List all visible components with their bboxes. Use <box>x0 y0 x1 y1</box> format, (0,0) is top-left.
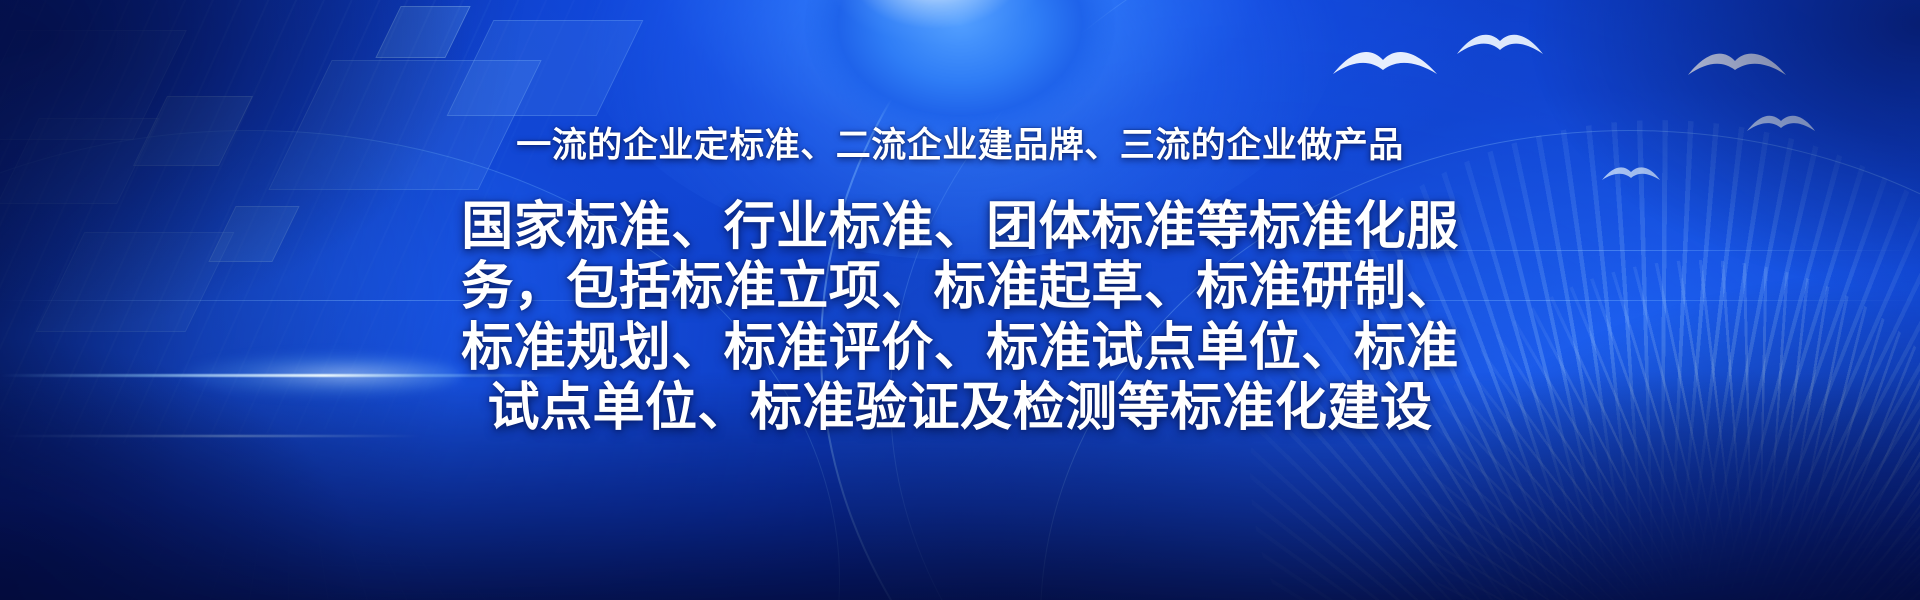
banner-headline: 国家标准、行业标准、团体标准等标准化服务，包括标准立项、标准起草、标准研制、标准… <box>440 197 1480 438</box>
banner-subtitle: 一流的企业定标准、二流企业建品牌、三流的企业做产品 <box>516 128 1404 163</box>
standardization-service-banner: 一流的企业定标准、二流企业建品牌、三流的企业做产品 国家标准、行业标准、团体标准… <box>0 0 1920 600</box>
banner-content: 一流的企业定标准、二流企业建品牌、三流的企业做产品 国家标准、行业标准、团体标准… <box>0 0 1920 600</box>
